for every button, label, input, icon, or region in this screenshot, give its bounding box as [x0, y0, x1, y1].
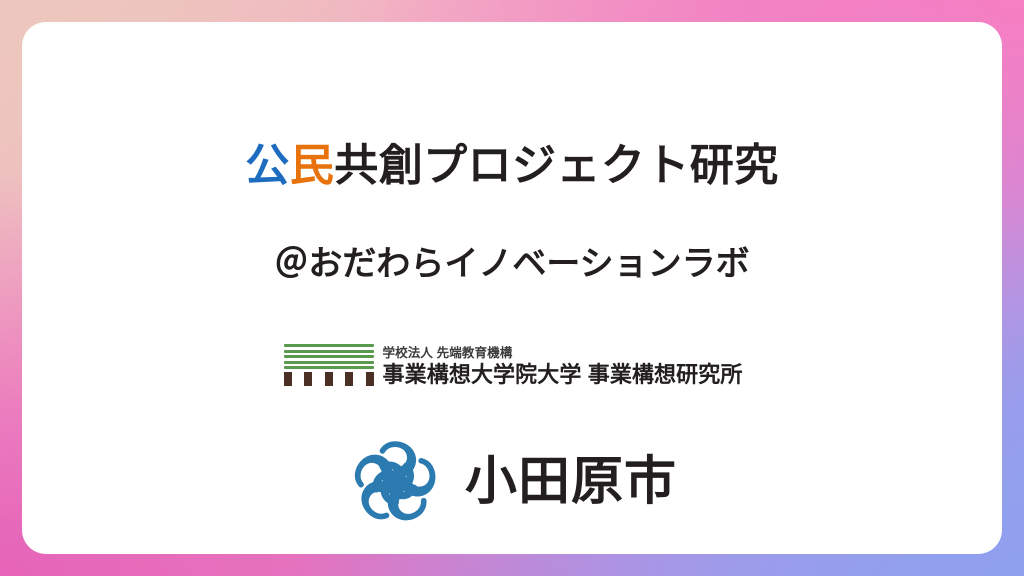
university-kicker: 学校法人 先端教育機構 — [383, 347, 743, 360]
plum-blossom-icon — [347, 436, 443, 528]
city-name: 小田原市 — [465, 456, 677, 508]
university-logo-lockup: 学校法人 先端教育機構 事業構想大学院大学 事業構想研究所 — [22, 344, 1002, 386]
page-title: 公民共創プロジェクト研究 — [22, 140, 1002, 193]
university-mark-icon — [282, 344, 374, 386]
page-subtitle: ＠おだわらイノベーションラボ — [22, 244, 1002, 285]
title-segment-orange: 民 — [290, 141, 334, 190]
slide-content: 公民共創プロジェクト研究 ＠おだわらイノベーションラボ 学校法人 先端教育機構 … — [22, 22, 1002, 554]
university-text-block: 学校法人 先端教育機構 事業構想大学院大学 事業構想研究所 — [383, 347, 743, 387]
slide-card: 公民共創プロジェクト研究 ＠おだわらイノベーションラボ 学校法人 先端教育機構 … — [22, 22, 1002, 554]
title-segment-dark: 共創プロジェクト研究 — [334, 141, 778, 190]
university-mark-stripes — [284, 344, 374, 369]
slide-backdrop: 公民共創プロジェクト研究 ＠おだわらイノベーションラボ 学校法人 先端教育機構 … — [0, 0, 1024, 576]
university-name: 事業構想大学院大学 事業構想研究所 — [383, 364, 743, 386]
university-mark-bars — [284, 372, 374, 386]
title-segment-blue: 公 — [245, 141, 289, 190]
city-logo-lockup: 小田原市 — [22, 436, 1002, 528]
